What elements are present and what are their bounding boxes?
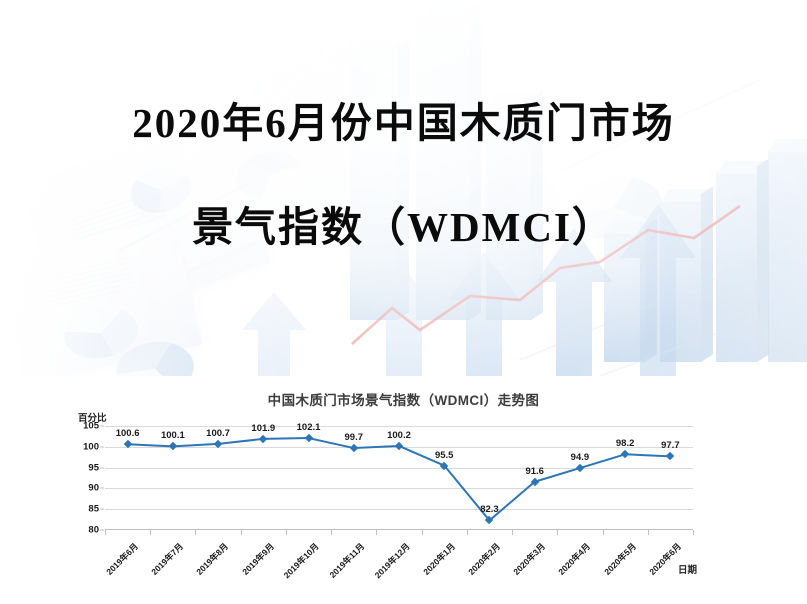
x-axis-label: 2019年6月 [103,540,140,577]
data-point-label: 98.2 [616,438,635,449]
y-axis-tick-mark [100,426,104,427]
data-point-label: 101.9 [251,423,275,434]
x-axis-label: 2020年3月 [511,540,548,577]
x-axis-tick-mark [195,530,196,535]
x-axis-label: 2020年5月 [601,540,638,577]
x-axis-tick-mark [422,530,423,535]
x-axis-tick-mark [105,530,106,535]
y-axis-tick-label: 90 [88,483,99,494]
chart-container: 中国木质门市场景气指数（WDMCI）走势图 百分比 日期 80859095100… [0,376,807,604]
x-axis-label: 2020年2月 [465,540,502,577]
page-title-line-2: 景气指数（WDMCI） [0,200,807,254]
y-axis-tick-label: 95 [88,462,99,473]
data-point-label: 91.6 [525,466,544,477]
x-axis-label: 2019年10月 [281,540,322,581]
y-axis-tick-label: 105 [83,421,99,432]
x-axis-tick-mark [693,530,694,535]
x-axis-tick-mark [512,530,513,535]
series-polyline [128,438,671,520]
data-point-label: 100.7 [206,428,230,439]
page-title: 2020年6月份中国木质门市场 景气指数（WDMCI） [0,96,807,254]
y-axis-tick-mark [100,488,104,489]
data-point-label: 99.7 [345,432,364,443]
data-point-label: 97.7 [661,440,680,451]
x-axis-label: 2019年11月 [327,540,367,580]
y-axis-tick-label: 100 [83,441,99,452]
y-axis-tick-label: 80 [88,525,99,536]
data-point-label: 95.5 [435,450,454,461]
data-point-label: 94.9 [571,452,590,463]
x-axis-tick-mark [603,530,604,535]
data-point-label: 102.1 [297,422,321,433]
x-axis-tick-mark [376,530,377,535]
x-axis-label: 2019年8月 [194,540,231,577]
data-point-label: 100.1 [161,430,185,441]
x-axis-label: 2019年9月 [239,540,276,577]
data-point-label: 100.6 [116,428,140,439]
y-axis-tick-mark [100,467,104,468]
x-axis-tick-mark [467,530,468,535]
page-title-line-1: 2020年6月份中国木质门市场 [0,96,807,150]
x-axis-tick-mark [286,530,287,535]
hero-banner: 2020年6月份中国木质门市场 景气指数（WDMCI） [0,0,807,376]
chart-title: 中国木质门市场景气指数（WDMCI）走势图 [0,389,807,409]
x-axis-tick-mark [241,530,242,535]
x-axis-label: 2020年4月 [556,540,593,577]
x-axis-tick-mark [557,530,558,535]
x-axis-tick-mark [150,530,151,535]
y-axis-tick-mark [100,509,104,510]
chart-plot-area: 80859095100105 100.6100.1100.7101.9102.1… [105,426,693,530]
data-point-label: 82.3 [480,504,499,515]
x-axis-title: 日期 [678,562,697,576]
data-point-label: 100.2 [387,430,411,441]
x-axis-label: 2019年7月 [149,540,186,577]
y-axis-tick-mark [100,530,104,531]
x-axis-label: 2020年1月 [420,540,457,577]
y-axis-tick-mark [100,446,104,447]
x-axis-tick-mark [648,530,649,535]
x-axis-tick-mark [331,530,332,535]
y-axis-tick-label: 85 [88,504,99,515]
x-axis-label: 2019年12月 [372,540,413,581]
